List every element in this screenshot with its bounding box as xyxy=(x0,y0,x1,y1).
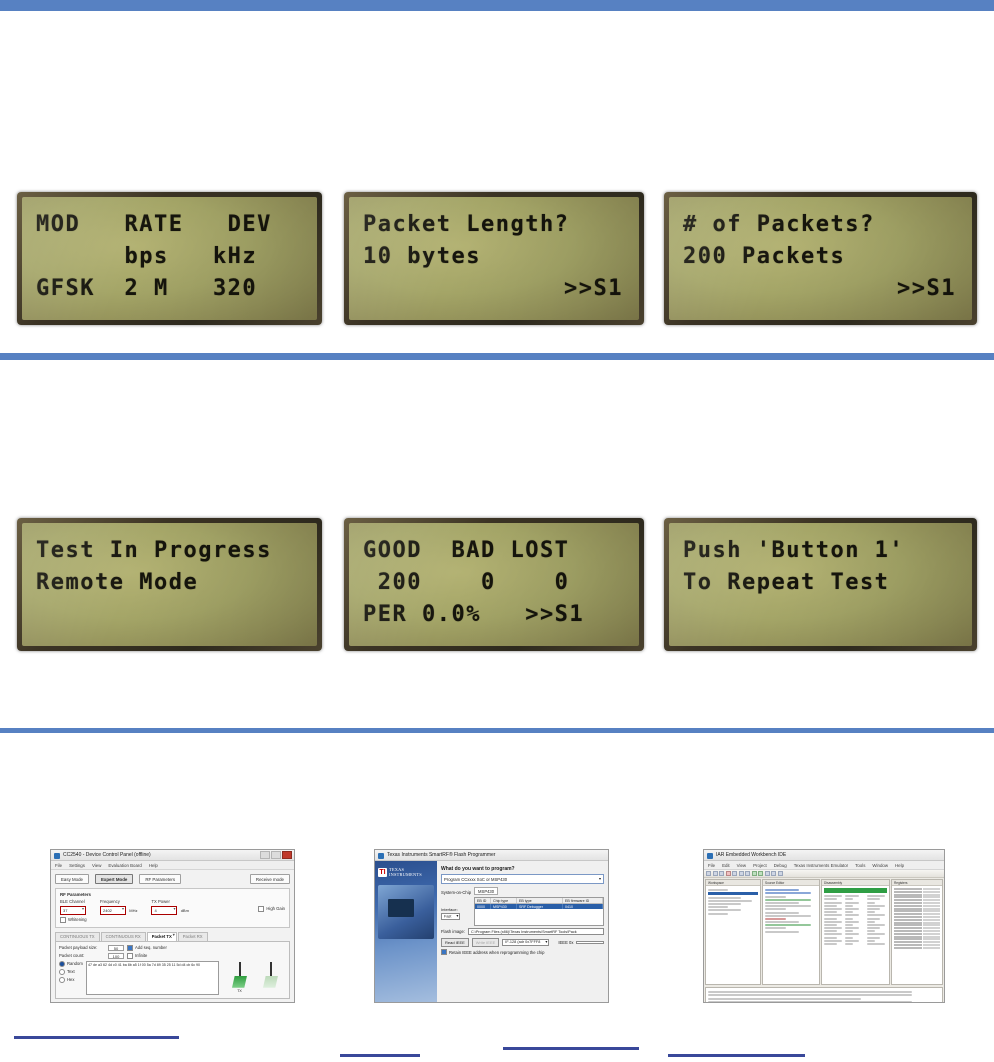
lcd-row-top: MOD RATE DEV bps kHz GFSK 2 M 320 Packet… xyxy=(0,192,994,332)
tx-power-unit: dBm xyxy=(181,908,189,913)
dis-line xyxy=(867,924,885,926)
register-row xyxy=(894,899,940,901)
register-value xyxy=(923,902,940,904)
program-question-label: What do you want to program? xyxy=(441,866,604,872)
ieee-row: Read IEEE Write IEEE IF-128 (adr 0x7FFF8… xyxy=(441,938,604,947)
write-ieee-button[interactable]: Write IEEE xyxy=(472,938,500,947)
code-line xyxy=(765,896,786,898)
footer-underline-4 xyxy=(668,1054,805,1057)
ble-channel-label: BLE Channel xyxy=(60,899,86,904)
dis-line xyxy=(824,908,842,910)
dis-line xyxy=(824,895,842,897)
dis-line xyxy=(845,940,858,942)
easy-mode-button[interactable]: Easy Mode xyxy=(55,874,89,884)
footer-underline-2 xyxy=(340,1054,420,1057)
device-tabs[interactable]: System-on-Chip MSP430 xyxy=(441,887,604,895)
code-line xyxy=(765,902,799,904)
window-titlebar: Texas Instruments SmartRF® Flash Program… xyxy=(375,850,608,861)
register-name xyxy=(894,888,922,890)
dis-line xyxy=(867,905,885,907)
register-value xyxy=(923,938,940,940)
packet-count-input[interactable]: 100 xyxy=(108,953,124,959)
tx-power-field: TX Power 4 dBm xyxy=(151,899,188,915)
lcd-line-2: 200 0 0 xyxy=(363,567,629,599)
evaluation-board-image xyxy=(378,885,434,939)
antenna-mast xyxy=(239,962,241,976)
log-line xyxy=(708,998,861,1000)
opcode-column xyxy=(845,894,865,946)
lcd-rf-parameters: MOD RATE DEV bps kHz GFSK 2 M 320 xyxy=(17,192,322,325)
register-value xyxy=(923,913,940,915)
dis-line xyxy=(845,902,858,904)
run-icon[interactable] xyxy=(758,871,763,876)
ble-channel-select[interactable]: 37 xyxy=(60,906,86,915)
register-value xyxy=(923,899,940,901)
dis-line xyxy=(845,927,858,929)
register-value xyxy=(923,891,940,893)
program-target-select[interactable]: Program CCxxxx SoC or MSP430 xyxy=(441,874,604,884)
expert-mode-button[interactable]: Expert Mode xyxy=(95,874,133,884)
source-code-area[interactable] xyxy=(763,886,819,936)
payload-hex-textarea[interactable]: 47 de a3 62 4d c0 41 ba 8b a5 1f 00 5a 7… xyxy=(86,961,219,995)
packet-count-row: Packet count: 100 Infinite xyxy=(59,953,219,959)
register-row xyxy=(894,919,940,921)
dis-line xyxy=(867,898,880,900)
register-row xyxy=(894,941,940,943)
menu-item-eval-board[interactable]: Evaluation Board xyxy=(108,863,141,868)
dis-line xyxy=(845,930,853,932)
tx-antenna-icon: TX xyxy=(231,962,249,993)
register-row xyxy=(894,896,940,898)
lcd-repeat-test: Push 'Button 1' To Repeat Test xyxy=(664,518,977,651)
dis-line xyxy=(824,927,842,929)
cell-eb-id: 0000 xyxy=(475,904,491,909)
register-name xyxy=(894,947,922,949)
dis-line xyxy=(824,898,837,900)
register-row xyxy=(894,894,940,896)
menu-item-view[interactable]: View xyxy=(92,863,101,868)
register-row xyxy=(894,922,940,924)
lcd-row-bottom: Test In Progress Remote Mode GOOD BAD LO… xyxy=(0,518,994,658)
packet-tx-left: Packet payload size: 50 Add seq. number … xyxy=(59,945,219,995)
lcd-line-1: Push 'Button 1' xyxy=(683,535,962,567)
tab-continuous-rx[interactable]: CONTINUOUS RX xyxy=(101,932,146,941)
ieee-value-input[interactable] xyxy=(576,941,604,944)
register-name xyxy=(894,922,922,924)
register-name xyxy=(894,927,922,929)
disassembly-grid xyxy=(824,894,887,946)
register-value xyxy=(923,924,940,926)
ide-body: Workspace Source Editor xyxy=(704,870,944,1003)
register-row xyxy=(894,913,940,915)
frequency-select[interactable]: 2402 xyxy=(100,906,126,915)
code-line xyxy=(765,899,811,901)
open-file-icon[interactable] xyxy=(713,871,718,876)
register-row xyxy=(894,916,940,918)
cell-chip-type: MSP430 xyxy=(491,904,517,909)
register-name xyxy=(894,938,922,940)
th-eb-id: EB ID xyxy=(475,898,491,903)
source-editor-pane[interactable]: Source Editor xyxy=(762,879,820,985)
menu-item-edit[interactable]: Edit xyxy=(722,863,730,868)
device-table[interactable]: EB ID Chip type EB type EB firmware ID 0… xyxy=(474,897,604,926)
lcd-line-1: Packet Length? xyxy=(363,209,629,241)
toolbar[interactable] xyxy=(704,870,944,878)
flash-image-input[interactable]: C:\Program Files (x86)\Texas Instruments… xyxy=(468,928,604,935)
tree-item[interactable] xyxy=(708,889,728,891)
frequency-label: Frequency xyxy=(100,899,137,904)
tree-item[interactable] xyxy=(708,897,741,899)
flash-image-label: Flash image: xyxy=(441,929,465,934)
menu-item-file[interactable]: File xyxy=(55,863,62,868)
register-row xyxy=(894,924,940,926)
window-title-text: CC2540 - Device Control Panel (offline) xyxy=(63,852,151,858)
interface-label: Interface: xyxy=(441,907,471,912)
register-name xyxy=(894,916,922,918)
menu-item-help[interactable]: Help xyxy=(895,863,904,868)
lcd-line-2: Remote Mode xyxy=(36,567,307,599)
lcd-screen: MOD RATE DEV bps kHz GFSK 2 M 320 xyxy=(22,197,317,320)
register-name xyxy=(894,924,922,926)
address-column xyxy=(824,894,844,946)
th-chip-type: Chip type xyxy=(491,898,517,903)
packet-payload-size-label: Packet payload size: xyxy=(59,945,105,950)
tree-item[interactable] xyxy=(708,909,741,911)
register-row xyxy=(894,908,940,910)
register-name xyxy=(894,910,922,912)
register-row xyxy=(894,891,940,893)
register-name xyxy=(894,936,922,938)
ieee-label: IEEE 0x xyxy=(558,940,573,945)
registers-list[interactable] xyxy=(892,886,942,952)
dis-line xyxy=(867,930,875,932)
lcd-screen: Test In Progress Remote Mode xyxy=(22,523,317,646)
dis-line xyxy=(845,933,858,935)
radio-text[interactable]: Text xyxy=(59,969,83,975)
menu-bar[interactable]: File Settings View Evaluation Board Help xyxy=(51,861,294,870)
lcd-screen: # of Packets? 200 Packets >>S1 xyxy=(669,197,972,320)
lcd-number-of-packets: # of Packets? 200 Packets >>S1 xyxy=(664,192,977,325)
screenshot-flash-programmer[interactable]: Texas Instruments SmartRF® Flash Program… xyxy=(374,849,609,1003)
menu-item-help[interactable]: Help xyxy=(149,863,158,868)
register-value xyxy=(923,888,940,890)
register-name xyxy=(894,896,922,898)
infinite-checkbox[interactable]: Infinite xyxy=(127,953,147,959)
dis-line xyxy=(845,895,858,897)
interface-field: Interface: Fast xyxy=(441,907,471,918)
dis-line xyxy=(867,911,875,913)
code-line xyxy=(765,927,786,929)
menu-item-window[interactable]: Window xyxy=(872,863,888,868)
register-row xyxy=(894,944,940,946)
lcd-screen: GOOD BAD LOST 200 0 0 PER 0.0% >>S1 xyxy=(349,523,639,646)
register-value xyxy=(923,936,940,938)
register-row xyxy=(894,947,940,949)
app-icon xyxy=(707,853,713,859)
current-instruction-row[interactable] xyxy=(824,888,887,893)
window-titlebar: CC2540 - Device Control Panel (offline) xyxy=(51,850,294,861)
cut-icon[interactable] xyxy=(732,871,737,876)
mnemonic-column xyxy=(867,894,887,946)
dis-line xyxy=(845,921,858,923)
read-ieee-button[interactable]: Read IEEE xyxy=(441,938,469,947)
tree-item-selected[interactable] xyxy=(708,892,758,895)
tab-packet-tx[interactable]: Packet TX xyxy=(147,932,177,941)
ieee-format-select[interactable]: IF-128 (adr 0x7FFF8 xyxy=(502,939,549,946)
register-row xyxy=(894,936,940,938)
tree-item[interactable] xyxy=(708,900,752,902)
flash-image-row: Flash image: C:\Program Files (x86)\Texa… xyxy=(441,928,604,935)
tx-power-label: TX Power xyxy=(151,899,188,904)
dis-line xyxy=(824,943,837,945)
table-row[interactable]: 0000 MSP430 SRF Debugger 0410 xyxy=(475,904,603,909)
dis-line xyxy=(824,937,837,939)
radio-hex[interactable]: Hex xyxy=(59,977,83,983)
register-value xyxy=(923,905,940,907)
register-name xyxy=(894,919,922,921)
window-title-text: IAR Embedded Workbench IDE xyxy=(716,852,786,858)
menu-item-view[interactable]: View xyxy=(737,863,746,868)
dis-line xyxy=(845,898,853,900)
lcd-line-3: GFSK 2 M 320 xyxy=(36,273,307,305)
register-value xyxy=(923,916,940,918)
top-accent-rule xyxy=(0,0,994,11)
tab-continuous-tx[interactable]: CONTINUOUS TX xyxy=(55,932,100,941)
dis-line xyxy=(845,924,853,926)
log-line xyxy=(708,1001,912,1003)
workspace-tree[interactable] xyxy=(706,886,760,918)
menu-item-project[interactable]: Project xyxy=(753,863,767,868)
add-seq-number-checkbox[interactable]: Add seq. number xyxy=(127,945,167,951)
antenna-indicators: TX RX xyxy=(224,945,286,995)
copy-icon[interactable] xyxy=(739,871,744,876)
code-line xyxy=(765,931,799,933)
lcd-screen: Push 'Button 1' To Repeat Test xyxy=(669,523,972,646)
dis-line xyxy=(824,924,837,926)
packet-payload-size-input[interactable]: 50 xyxy=(108,945,124,951)
code-line xyxy=(765,908,786,910)
packet-payload-size-row: Packet payload size: 50 Add seq. number xyxy=(59,945,219,951)
ti-mark-icon: TI xyxy=(378,868,387,877)
build-icon[interactable] xyxy=(752,871,757,876)
cell-eb-firmware: 0410 xyxy=(563,904,603,909)
menu-item-file[interactable]: File xyxy=(708,863,715,868)
section-rule-2 xyxy=(0,728,994,733)
dis-line xyxy=(845,943,853,945)
tx-power-select[interactable]: 4 xyxy=(151,906,177,915)
ble-channel-field: BLE Channel 37 xyxy=(60,899,86,915)
register-name xyxy=(894,899,922,901)
register-value xyxy=(923,894,940,896)
lcd-test-results: GOOD BAD LOST 200 0 0 PER 0.0% >>S1 xyxy=(344,518,644,651)
dis-line xyxy=(845,911,853,913)
dis-line xyxy=(824,905,837,907)
log-line xyxy=(708,994,912,996)
register-name xyxy=(894,894,922,896)
group-title: RF Parameters xyxy=(60,892,285,897)
new-file-icon[interactable] xyxy=(706,871,711,876)
menu-item-tools[interactable]: Tools xyxy=(855,863,865,868)
mode-tabs[interactable]: CONTINUOUS TX CONTINUOUS RX Packet TX Pa… xyxy=(55,932,290,941)
mode-toolbar: Easy Mode Expert Mode RF Parameters Rece… xyxy=(55,874,290,884)
rx-antenna-icon: RX xyxy=(262,962,280,993)
flash-programmer-main: What do you want to program? Program CCx… xyxy=(437,861,608,1003)
footer-underline-3 xyxy=(503,1047,639,1050)
th-eb-type: EB type xyxy=(517,898,563,903)
workspace-pane[interactable]: Workspace xyxy=(705,879,761,985)
lcd-line-1: # of Packets? xyxy=(683,209,962,241)
close-icon[interactable] xyxy=(282,851,292,859)
lcd-line-2: bps kHz xyxy=(36,241,307,273)
tab-system-on-chip[interactable]: System-on-Chip xyxy=(441,890,471,895)
register-row xyxy=(894,938,940,940)
dis-line xyxy=(867,921,875,923)
dis-line xyxy=(845,914,858,916)
code-line xyxy=(765,915,811,917)
tab-msp430[interactable]: MSP430 xyxy=(474,887,498,895)
dis-line xyxy=(845,937,853,939)
register-value xyxy=(923,944,940,946)
minimize-icon[interactable] xyxy=(260,851,270,859)
lcd-line-3: >>S1 xyxy=(363,273,629,305)
register-row xyxy=(894,902,940,904)
tree-item[interactable] xyxy=(708,913,728,915)
register-row xyxy=(894,910,940,912)
lcd-line-3: PER 0.0% >>S1 xyxy=(363,599,629,631)
dis-line xyxy=(867,914,885,916)
tx-antenna-label: TX xyxy=(231,989,249,993)
dis-line xyxy=(845,918,853,920)
receive-mode-button[interactable]: Receive mode xyxy=(250,874,290,884)
rf-parameters-group: RF Parameters BLE Channel 37 Frequency 2… xyxy=(55,888,290,928)
register-value xyxy=(923,927,940,929)
register-value xyxy=(923,919,940,921)
window-title-text: Texas Instruments SmartRF® Flash Program… xyxy=(387,852,495,858)
dis-line xyxy=(867,908,880,910)
register-name xyxy=(894,944,922,946)
step-over-icon[interactable] xyxy=(765,871,770,876)
whitening-checkbox[interactable]: Whitening xyxy=(60,917,87,923)
footer-underline-1 xyxy=(14,1036,179,1039)
dis-line xyxy=(845,905,853,907)
register-value xyxy=(923,947,940,949)
code-line xyxy=(765,921,799,923)
dis-line xyxy=(824,921,842,923)
register-name xyxy=(894,891,922,893)
tree-item[interactable] xyxy=(708,903,741,905)
brand-line-2: INSTRUMENTS xyxy=(389,872,422,877)
section-rule-1 xyxy=(0,353,994,360)
menu-bar[interactable]: File Edit View Project Debug Texas Instr… xyxy=(704,861,944,870)
dis-line xyxy=(824,911,837,913)
packet-tx-panel: Packet payload size: 50 Add seq. number … xyxy=(55,941,290,999)
dis-line xyxy=(824,918,837,920)
table-empty-area xyxy=(475,909,603,925)
radio-random[interactable]: Random xyxy=(59,961,83,967)
dis-line xyxy=(867,918,880,920)
register-row xyxy=(894,905,940,907)
register-row xyxy=(894,888,940,890)
paste-icon[interactable] xyxy=(745,871,750,876)
app-icon xyxy=(54,853,60,859)
register-name xyxy=(894,902,922,904)
register-value xyxy=(923,908,940,910)
lcd-test-in-progress: Test In Progress Remote Mode xyxy=(17,518,322,651)
save-icon[interactable] xyxy=(719,871,724,876)
disassembly-pane[interactable]: Disassembly xyxy=(821,879,890,985)
frequency-unit: MHz xyxy=(129,908,137,913)
step-into-icon[interactable] xyxy=(771,871,776,876)
high-gain-checkbox[interactable]: High Gain xyxy=(258,906,285,912)
register-name xyxy=(894,941,922,943)
register-name xyxy=(894,933,922,935)
registers-pane[interactable]: Registers xyxy=(891,879,943,985)
lcd-line-3: >>S1 xyxy=(683,273,962,305)
dis-line xyxy=(824,914,842,916)
dis-line xyxy=(867,902,875,904)
dis-line xyxy=(867,937,880,939)
register-name xyxy=(894,913,922,915)
tree-item[interactable] xyxy=(708,906,728,908)
stop-icon[interactable] xyxy=(726,871,731,876)
debug-log-pane[interactable] xyxy=(705,987,943,1003)
lcd-screen: Packet Length? 10 bytes >>S1 xyxy=(349,197,639,320)
register-value xyxy=(923,930,940,932)
maximize-icon[interactable] xyxy=(271,851,281,859)
register-name xyxy=(894,930,922,932)
register-row xyxy=(894,927,940,929)
code-line xyxy=(765,905,811,907)
dis-line xyxy=(824,902,842,904)
screenshot-device-control-panel[interactable]: CC2540 - Device Control Panel (offline) … xyxy=(50,849,295,1003)
dis-line xyxy=(824,933,842,935)
frequency-field: Frequency 2402 MHz xyxy=(100,899,137,915)
menu-item-emulator[interactable]: Texas Instruments Emulator xyxy=(794,863,848,868)
rf-parameters-button[interactable]: RF Parameters xyxy=(139,874,181,884)
tab-packet-rx[interactable]: Packet RX xyxy=(178,932,208,941)
lcd-packet-length: Packet Length? 10 bytes >>S1 xyxy=(344,192,644,325)
register-value xyxy=(923,941,940,943)
dis-line xyxy=(867,943,885,945)
disassembly-listing[interactable] xyxy=(822,886,889,948)
log-line xyxy=(708,991,912,993)
lcd-line-2: 200 Packets xyxy=(683,241,962,273)
lcd-line-2: 10 bytes xyxy=(363,241,629,273)
ti-brand-text: TEXAS INSTRUMENTS xyxy=(389,867,422,877)
branding-sidebar: TI TEXAS INSTRUMENTS xyxy=(375,861,437,1003)
high-gain-field: . High Gain xyxy=(258,899,285,915)
register-value xyxy=(923,910,940,912)
menu-item-debug[interactable]: Debug xyxy=(774,863,787,868)
window-buttons[interactable] xyxy=(260,851,292,859)
code-line xyxy=(765,889,799,891)
dis-line xyxy=(867,933,885,935)
breakpoint-icon[interactable] xyxy=(778,871,783,876)
interface-select[interactable]: Fast xyxy=(441,913,460,920)
retain-ieee-checkbox[interactable]: Retain IEEE address when reprogramming t… xyxy=(441,949,544,955)
dis-line xyxy=(867,895,885,897)
register-row xyxy=(894,933,940,935)
dis-line xyxy=(867,927,880,929)
register-name xyxy=(894,905,922,907)
dis-line xyxy=(824,930,837,932)
screenshot-ide[interactable]: IAR Embedded Workbench IDE File Edit Vie… xyxy=(703,849,945,1003)
register-value xyxy=(923,896,940,898)
menu-item-settings[interactable]: Settings xyxy=(69,863,85,868)
antenna-mast xyxy=(270,962,272,976)
dis-line xyxy=(845,908,858,910)
dis-line xyxy=(867,940,875,942)
